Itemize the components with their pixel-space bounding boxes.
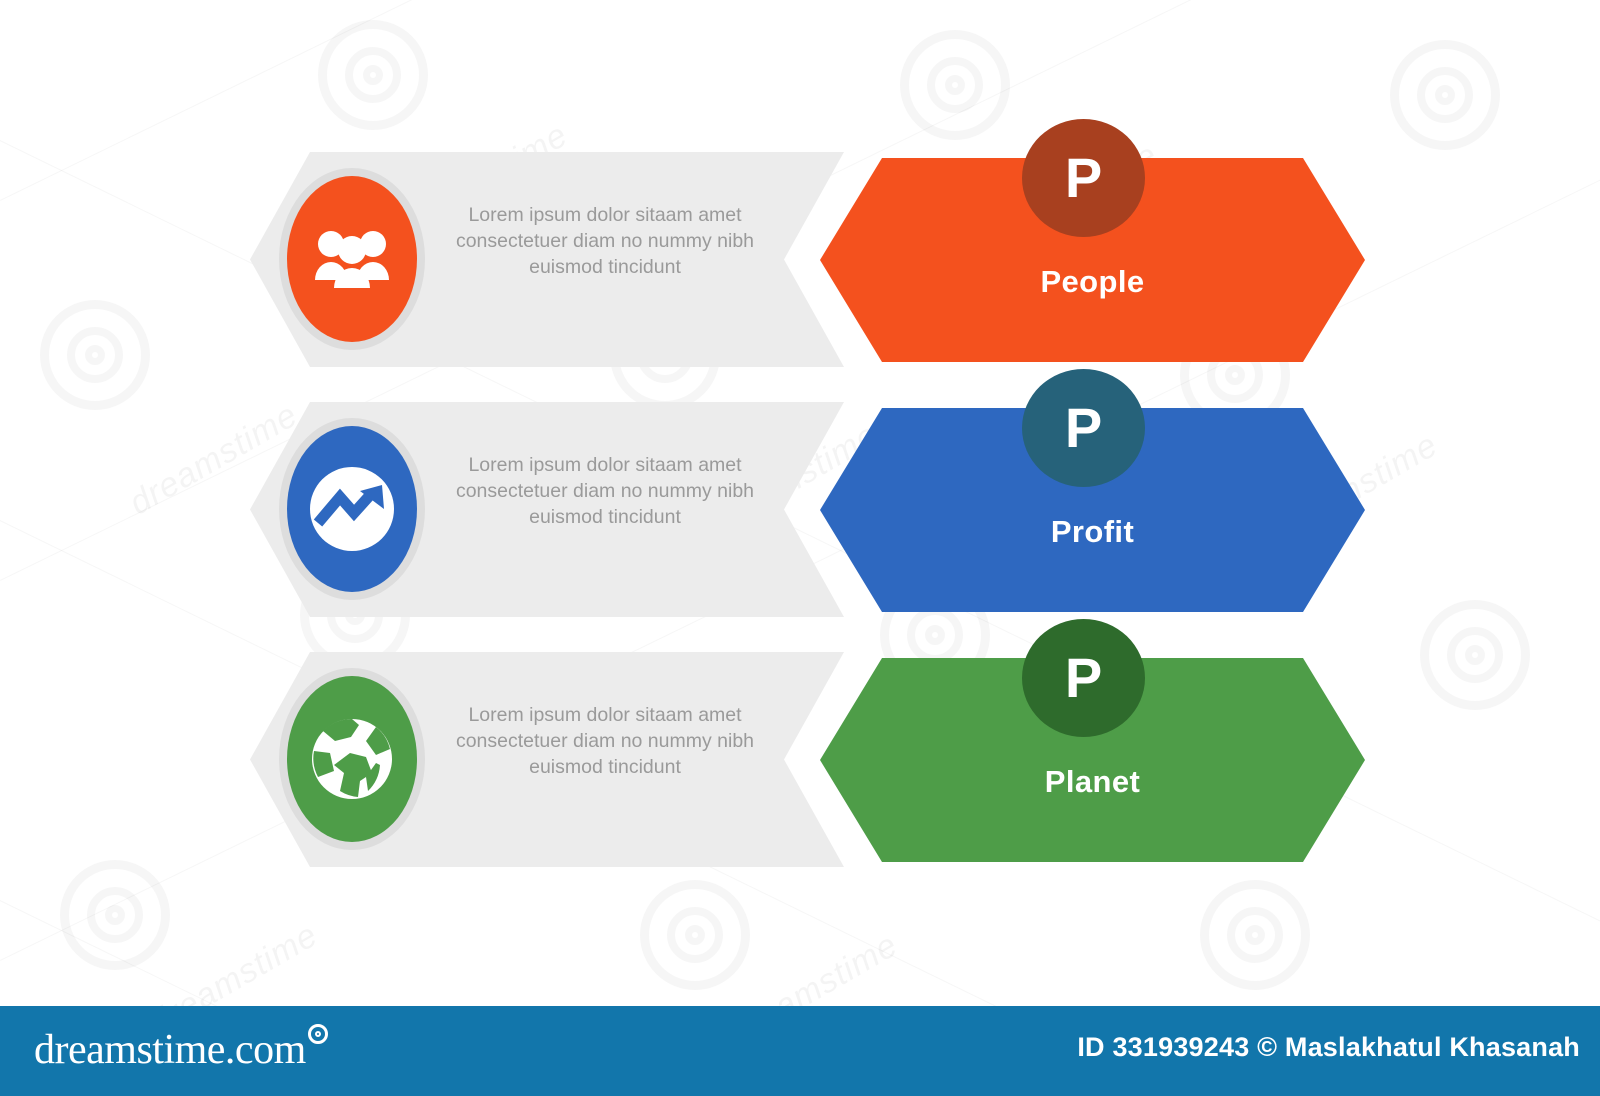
p-badge-people[interactable]: P bbox=[1022, 119, 1145, 237]
p-badge-letter: P bbox=[1065, 150, 1102, 206]
p-badge-letter: P bbox=[1065, 400, 1102, 456]
hexagon-label-profit: Profit bbox=[820, 514, 1365, 550]
spiral-watermark-icon bbox=[318, 20, 428, 130]
icon-ring bbox=[279, 668, 425, 850]
spiral-watermark-icon bbox=[1390, 40, 1500, 150]
infographic-row-people: Lorem ipsum dolor sitaam amet consectetu… bbox=[0, 152, 1600, 367]
trending-up-chart-icon bbox=[304, 461, 400, 557]
p-badge-profit[interactable]: P bbox=[1022, 369, 1145, 487]
icon-circle-profit[interactable] bbox=[287, 426, 417, 592]
icon-ring bbox=[279, 418, 425, 600]
image-credit: ID 331939243 © Maslakhatul Khasanah bbox=[1077, 1032, 1580, 1063]
globe-earth-icon bbox=[306, 713, 398, 805]
row-description: Lorem ipsum dolor sitaam amet consectetu… bbox=[455, 452, 755, 530]
icon-ring bbox=[279, 168, 425, 350]
spiral-watermark-icon bbox=[900, 30, 1010, 140]
icon-circle-people[interactable] bbox=[287, 176, 417, 342]
spiral-watermark-icon bbox=[1200, 880, 1310, 990]
people-group-icon bbox=[313, 228, 391, 290]
p-badge-letter: P bbox=[1065, 650, 1102, 706]
hexagon-label-people: People bbox=[820, 264, 1365, 300]
dreamstime-logo-text[interactable]: dreamstime.com bbox=[34, 1026, 306, 1074]
icon-circle-planet[interactable] bbox=[287, 676, 417, 842]
hexagon-label-planet: Planet bbox=[820, 764, 1365, 800]
infographic-row-profit: Lorem ipsum dolor sitaam amet consectetu… bbox=[0, 402, 1600, 617]
row-description: Lorem ipsum dolor sitaam amet consectetu… bbox=[455, 202, 755, 280]
stock-footer-bar: dreamstime.com ID 331939243 © Maslakhatu… bbox=[0, 1006, 1600, 1096]
dreamstime-spiral-icon bbox=[308, 1024, 328, 1044]
spiral-watermark-icon bbox=[60, 860, 170, 970]
infographic-canvas: dreamstime dreamstime dreamstime dreamst… bbox=[0, 0, 1600, 1096]
row-description: Lorem ipsum dolor sitaam amet consectetu… bbox=[455, 702, 755, 780]
p-badge-planet[interactable]: P bbox=[1022, 619, 1145, 737]
spiral-watermark-icon bbox=[640, 880, 750, 990]
infographic-row-planet: Lorem ipsum dolor sitaam amet consectetu… bbox=[0, 652, 1600, 867]
